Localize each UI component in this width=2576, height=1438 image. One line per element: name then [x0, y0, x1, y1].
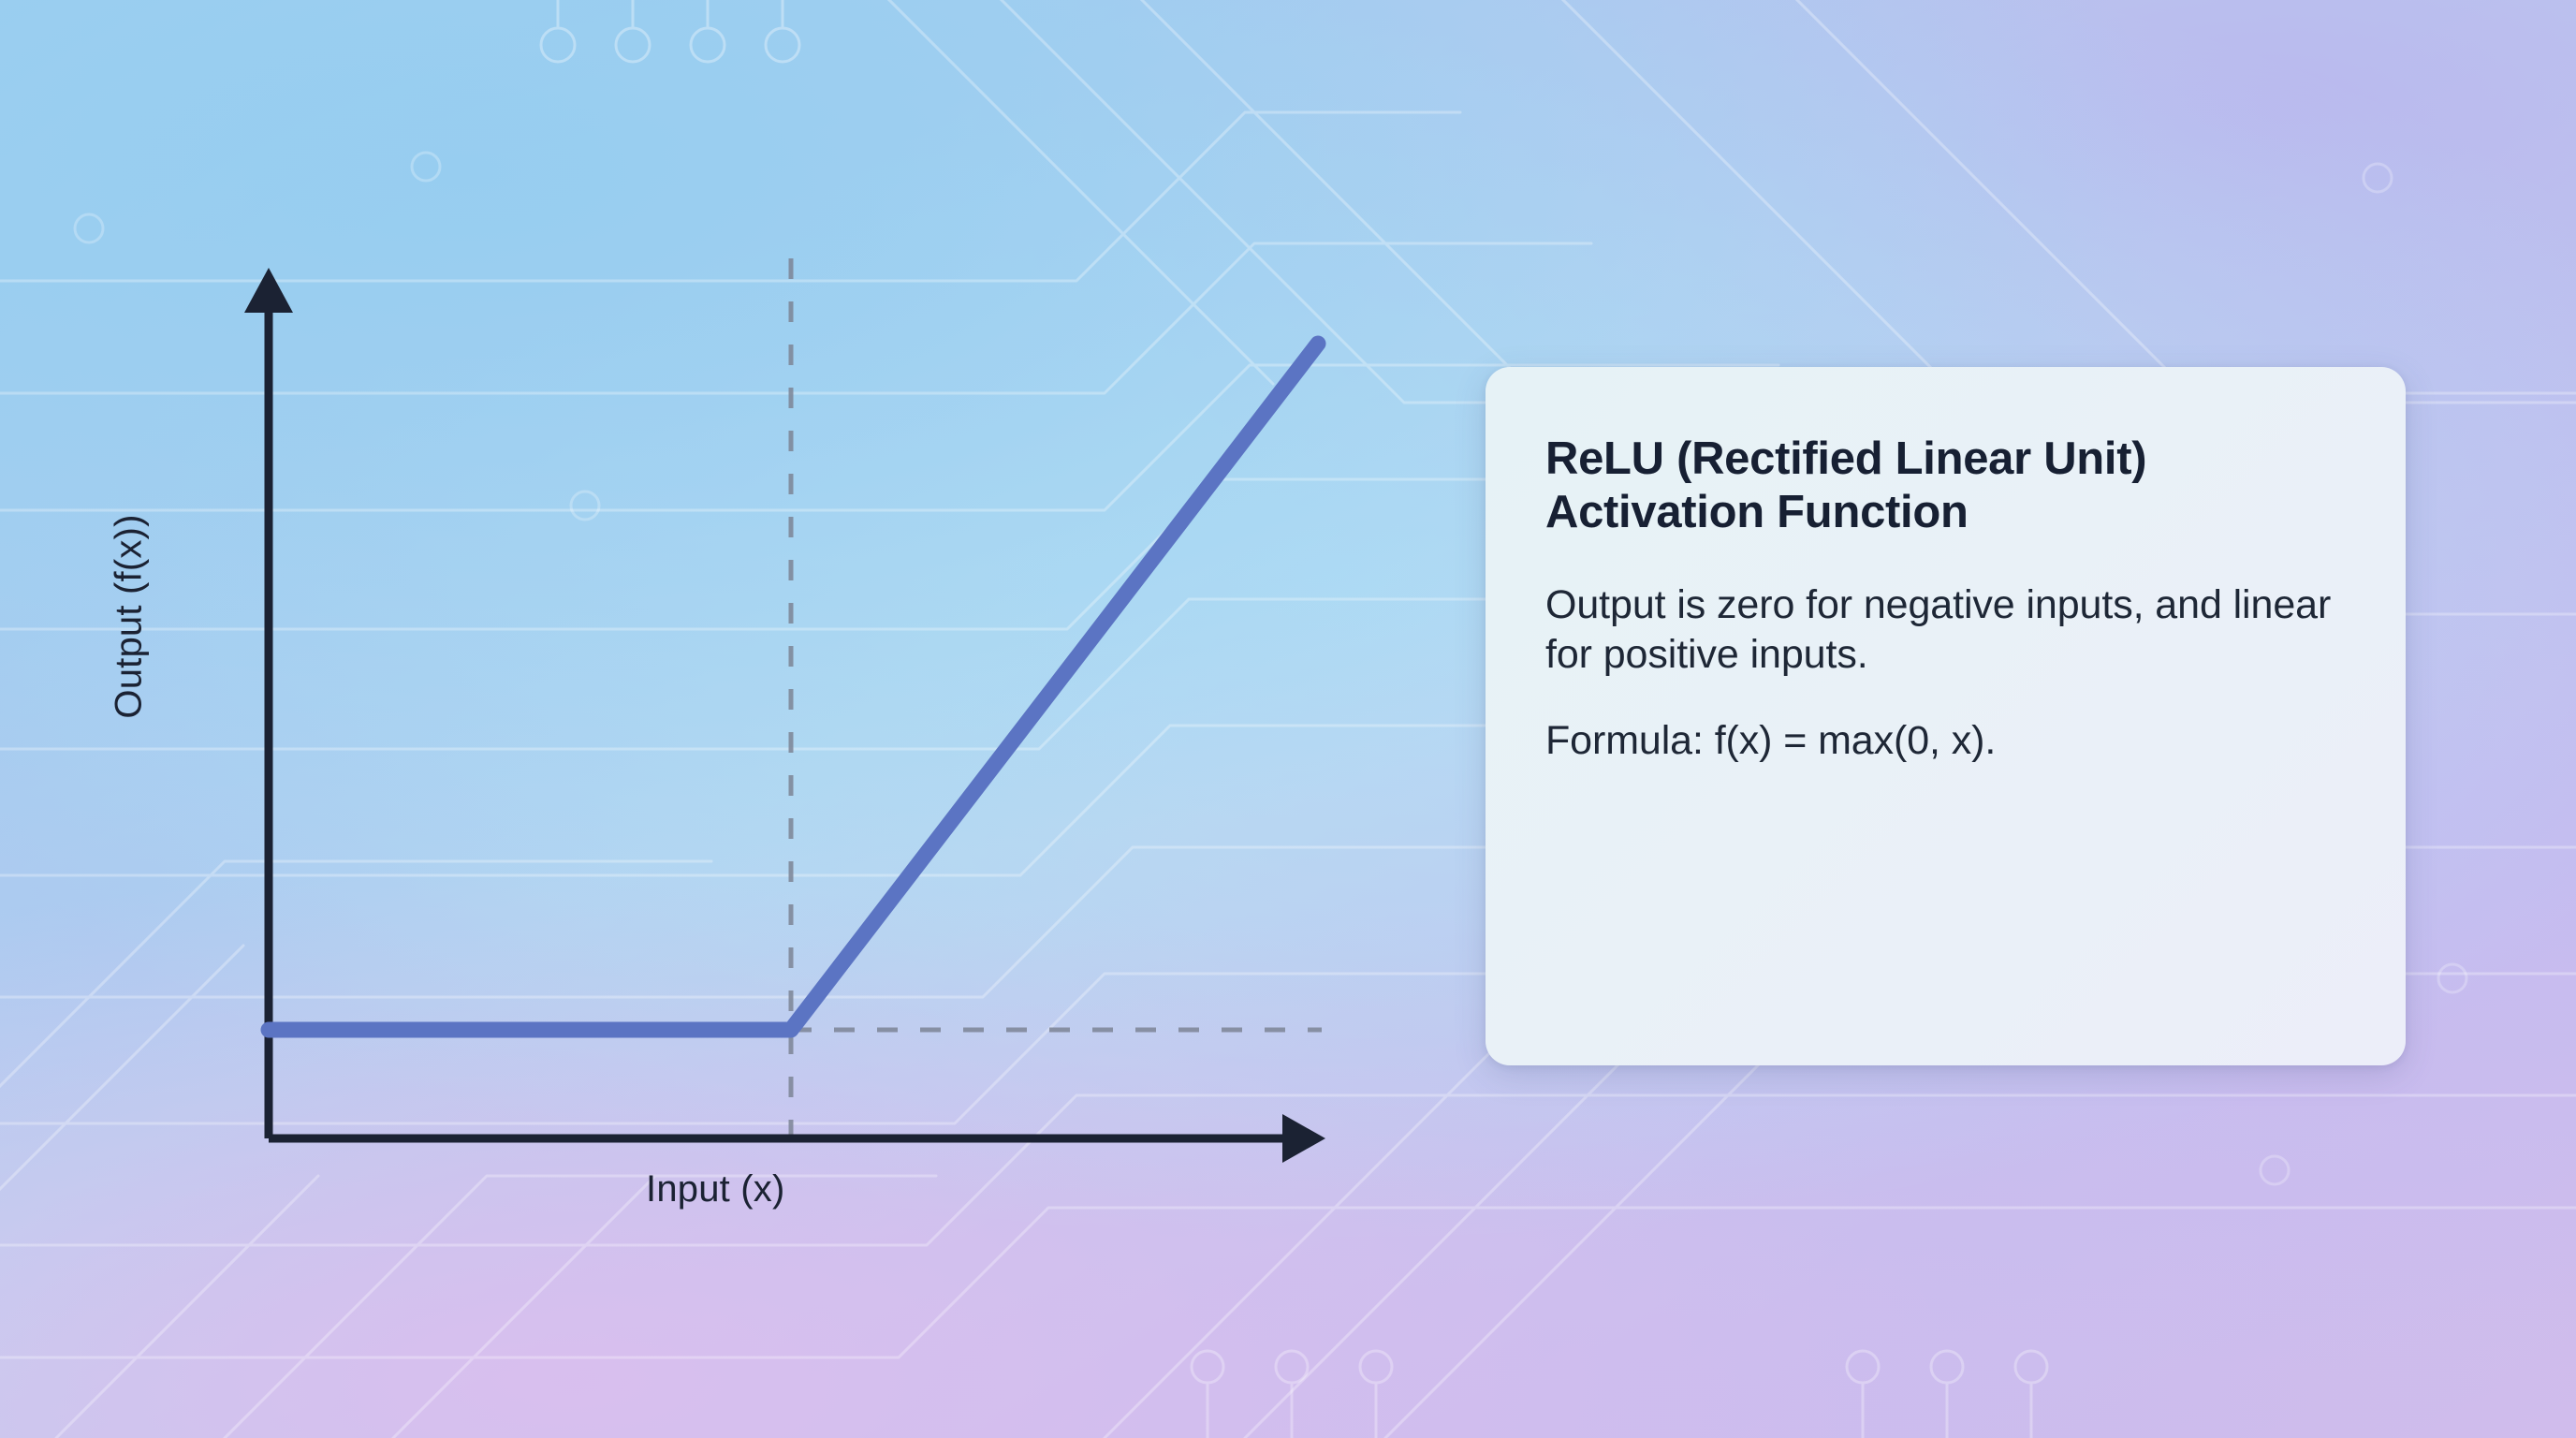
card-description: Output is zero for negative inputs, and …: [1545, 580, 2346, 680]
y-axis-label: Output (f(x)): [109, 420, 151, 814]
x-axis-label: Input (x): [646, 1168, 785, 1211]
slide-canvas: Output (f(x)) Input (x) ReLU (Rectified …: [0, 0, 2576, 1438]
card-formula: Formula: f(x) = max(0, x).: [1545, 716, 2346, 766]
info-card: ReLU (Rectified Linear Unit) Activation …: [1486, 367, 2406, 1065]
card-title: ReLU (Rectified Linear Unit) Activation …: [1545, 433, 2346, 539]
